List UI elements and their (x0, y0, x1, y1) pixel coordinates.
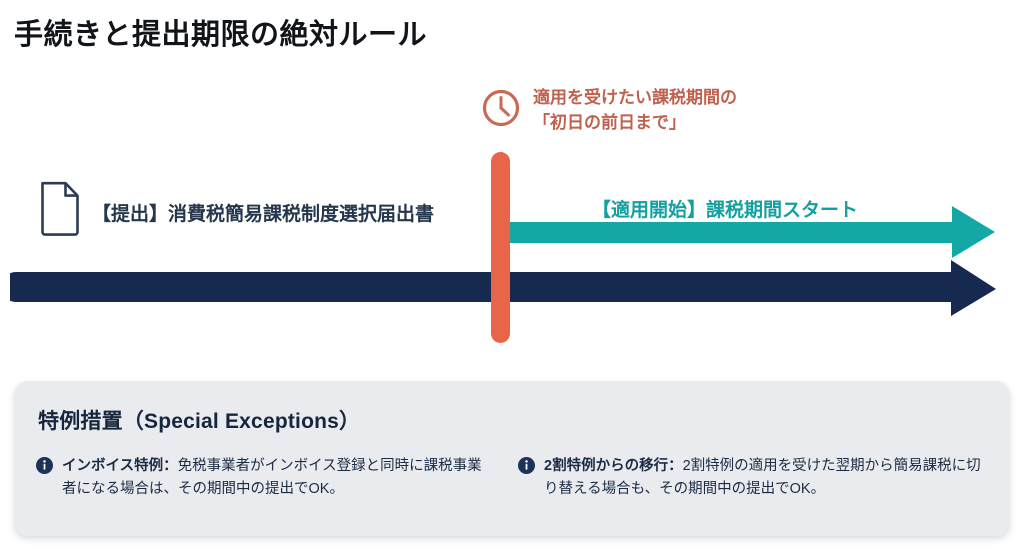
exceptions-heading: 特例措置（Special Exceptions） (38, 405, 360, 435)
list-item: 2割特例からの移行：2割特例の適用を受けた翌期から簡易課税に切り替える場合も、そ… (518, 455, 988, 502)
info-icon (36, 457, 53, 474)
deadline-annotation: 適用を受けたい課税期間の 「初日の前日まで」 (533, 86, 737, 135)
deadline-marker-bar (491, 152, 510, 343)
exception-lead: インボイス特例： (62, 458, 178, 474)
deadline-annotation-line-1: 適用を受けたい課税期間の (533, 88, 737, 107)
document-icon (38, 180, 82, 236)
exception-text: インボイス特例：免税事業者がインボイス登録と同時に課税事業者になる場合は、その期… (62, 455, 496, 502)
exception-text: 2割特例からの移行：2割特例の適用を受けた翌期から簡易課税に切り替える場合も、そ… (544, 455, 988, 502)
info-icon (518, 457, 535, 474)
application-period-label: 【適用開始】課税期間スタート (592, 195, 858, 222)
exception-lead: 2割特例からの移行： (544, 458, 683, 474)
page-title: 手続きと提出期限の絶対ルール (14, 11, 427, 53)
list-item: インボイス特例：免税事業者がインボイス登録と同時に課税事業者になる場合は、その期… (36, 455, 496, 502)
clock-icon (481, 88, 521, 128)
infographic-canvas: 手続きと提出期限の絶対ルール 適用を受けたい課税期間の 「初日の前日まで」 【提… (0, 0, 1024, 554)
deadline-annotation-line-2: 「初日の前日まで」 (533, 111, 737, 136)
submission-label: 【提出】消費税簡易課税制度選択届出書 (92, 199, 434, 226)
